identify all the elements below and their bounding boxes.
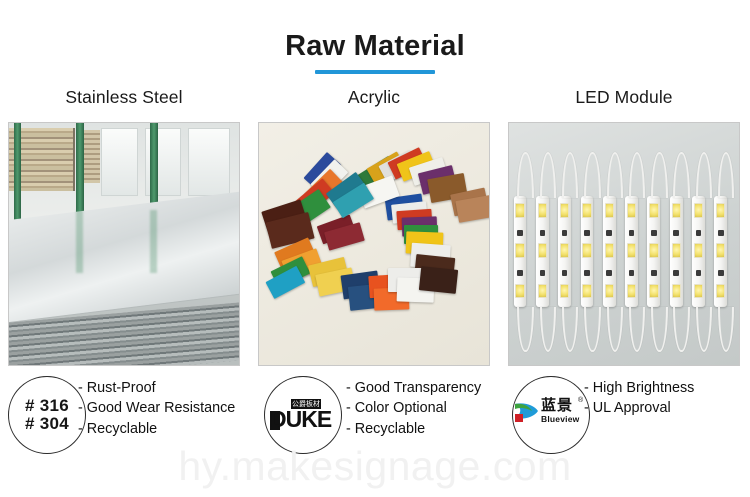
led-resistor (651, 230, 657, 236)
led-smd-chip (649, 284, 658, 298)
badge-steel-grades: # 316 # 304 (8, 376, 86, 454)
led-module (714, 196, 727, 307)
led-resistor (562, 270, 568, 276)
led-resistor (696, 230, 702, 236)
led-resistor (673, 270, 679, 276)
feature-item: - Recyclable (78, 419, 235, 439)
led-smd-chip (694, 203, 703, 217)
led-smd-chip (515, 203, 524, 217)
led-smd-chip (582, 284, 591, 298)
feature-list-acrylic: - Good Transparency - Color Optional - R… (346, 378, 481, 439)
led-smd-chip (649, 243, 658, 257)
green-column (76, 123, 84, 220)
led-smd-chip (582, 243, 591, 257)
photo-stainless-steel-scene (9, 123, 239, 365)
blueview-red-square (515, 414, 523, 422)
led-resistor (517, 270, 523, 276)
led-smd-chip (649, 203, 658, 217)
led-resistor (718, 270, 724, 276)
led-smd-chip (605, 203, 614, 217)
led-resistor (718, 230, 724, 236)
blueview-wordmark: Blueview (541, 415, 579, 424)
photo-led-module (508, 122, 740, 366)
steel-grade-316: # 316 (25, 397, 69, 415)
led-module (692, 196, 705, 307)
page-title: Raw Material (285, 32, 465, 61)
led-smd-chip (716, 284, 725, 298)
led-module (558, 196, 571, 307)
led-smd-chip (716, 243, 725, 257)
photo-acrylic-scene (259, 123, 489, 365)
led-smd-chip (560, 243, 569, 257)
blueview-logo: 蓝景 Blueview ® (514, 398, 588, 432)
warehouse-window (188, 128, 229, 196)
column-reflection (76, 210, 83, 273)
led-smd-chip (560, 284, 569, 298)
feature-list-led-module: - High Brightness - UL Approval (584, 378, 694, 419)
led-smd-chip (672, 284, 681, 298)
raw-material-infographic: Raw Material Stainless Steel Acrylic LED… (0, 0, 750, 497)
feature-item: - Good Wear Resistance (78, 398, 235, 418)
feature-item: - Good Transparency (346, 378, 481, 398)
blueview-chinese: 蓝景 (541, 398, 573, 413)
led-smd-chip (538, 203, 547, 217)
led-smd-chip (672, 203, 681, 217)
led-resistor (562, 230, 568, 236)
led-smd-chip (538, 284, 547, 298)
led-resistor (673, 230, 679, 236)
column-heading-led-module: LED Module (504, 87, 744, 108)
feature-item: - High Brightness (584, 378, 694, 398)
led-resistor (540, 230, 546, 236)
column-heading-stainless-steel: Stainless Steel (4, 87, 244, 108)
photo-led-scene (509, 123, 739, 365)
led-smd-chip (672, 243, 681, 257)
feature-item: - Color Optional (346, 398, 481, 418)
led-smd-chip (605, 284, 614, 298)
led-smd-chip (627, 203, 636, 217)
photo-stainless-steel (8, 122, 240, 366)
led-resistor (651, 270, 657, 276)
led-resistor (629, 230, 635, 236)
led-resistor (606, 270, 612, 276)
feature-item: - Rust-Proof (78, 378, 235, 398)
warehouse-window (101, 128, 138, 196)
led-smd-chip (582, 203, 591, 217)
led-smd-chip (560, 203, 569, 217)
feature-list-stainless-steel: - Rust-Proof - Good Wear Resistance - Re… (78, 378, 235, 439)
column-headings: Stainless Steel Acrylic LED Module (0, 87, 750, 113)
registered-trademark-icon: ® (578, 397, 583, 404)
feature-item: - UL Approval (584, 398, 694, 418)
led-smd-chip (515, 284, 524, 298)
column-reflection (150, 210, 157, 273)
led-smd-chip (538, 243, 547, 257)
led-resistor (629, 270, 635, 276)
acrylic-chip (419, 266, 458, 294)
title-underline-accent (315, 70, 435, 74)
duke-logo-wordmark: DUKE (270, 408, 331, 431)
led-module (514, 196, 527, 307)
duke-logo: 公爵板材 DUKE (270, 399, 336, 431)
led-module (647, 196, 660, 307)
led-resistor (540, 270, 546, 276)
green-column (14, 123, 21, 220)
page-title-block: Raw Material (0, 32, 750, 74)
led-module (670, 196, 683, 307)
led-module (625, 196, 638, 307)
led-smd-chip (716, 203, 725, 217)
led-resistor (584, 230, 590, 236)
led-module (536, 196, 549, 307)
feature-item: - Recyclable (346, 419, 481, 439)
led-smd-chip (627, 284, 636, 298)
led-module (603, 196, 616, 307)
led-smd-chip (694, 243, 703, 257)
site-watermark: hy.makesignage.com (0, 446, 750, 487)
led-smd-chip (627, 243, 636, 257)
led-smd-chip (515, 243, 524, 257)
led-smd-chip (605, 243, 614, 257)
led-resistor (606, 230, 612, 236)
led-module (581, 196, 594, 307)
led-resistor (517, 230, 523, 236)
led-smd-chip (694, 284, 703, 298)
steel-grade-304: # 304 (25, 415, 69, 433)
led-resistor (696, 270, 702, 276)
column-heading-acrylic: Acrylic (254, 87, 494, 108)
led-resistor (584, 270, 590, 276)
photo-acrylic (258, 122, 490, 366)
